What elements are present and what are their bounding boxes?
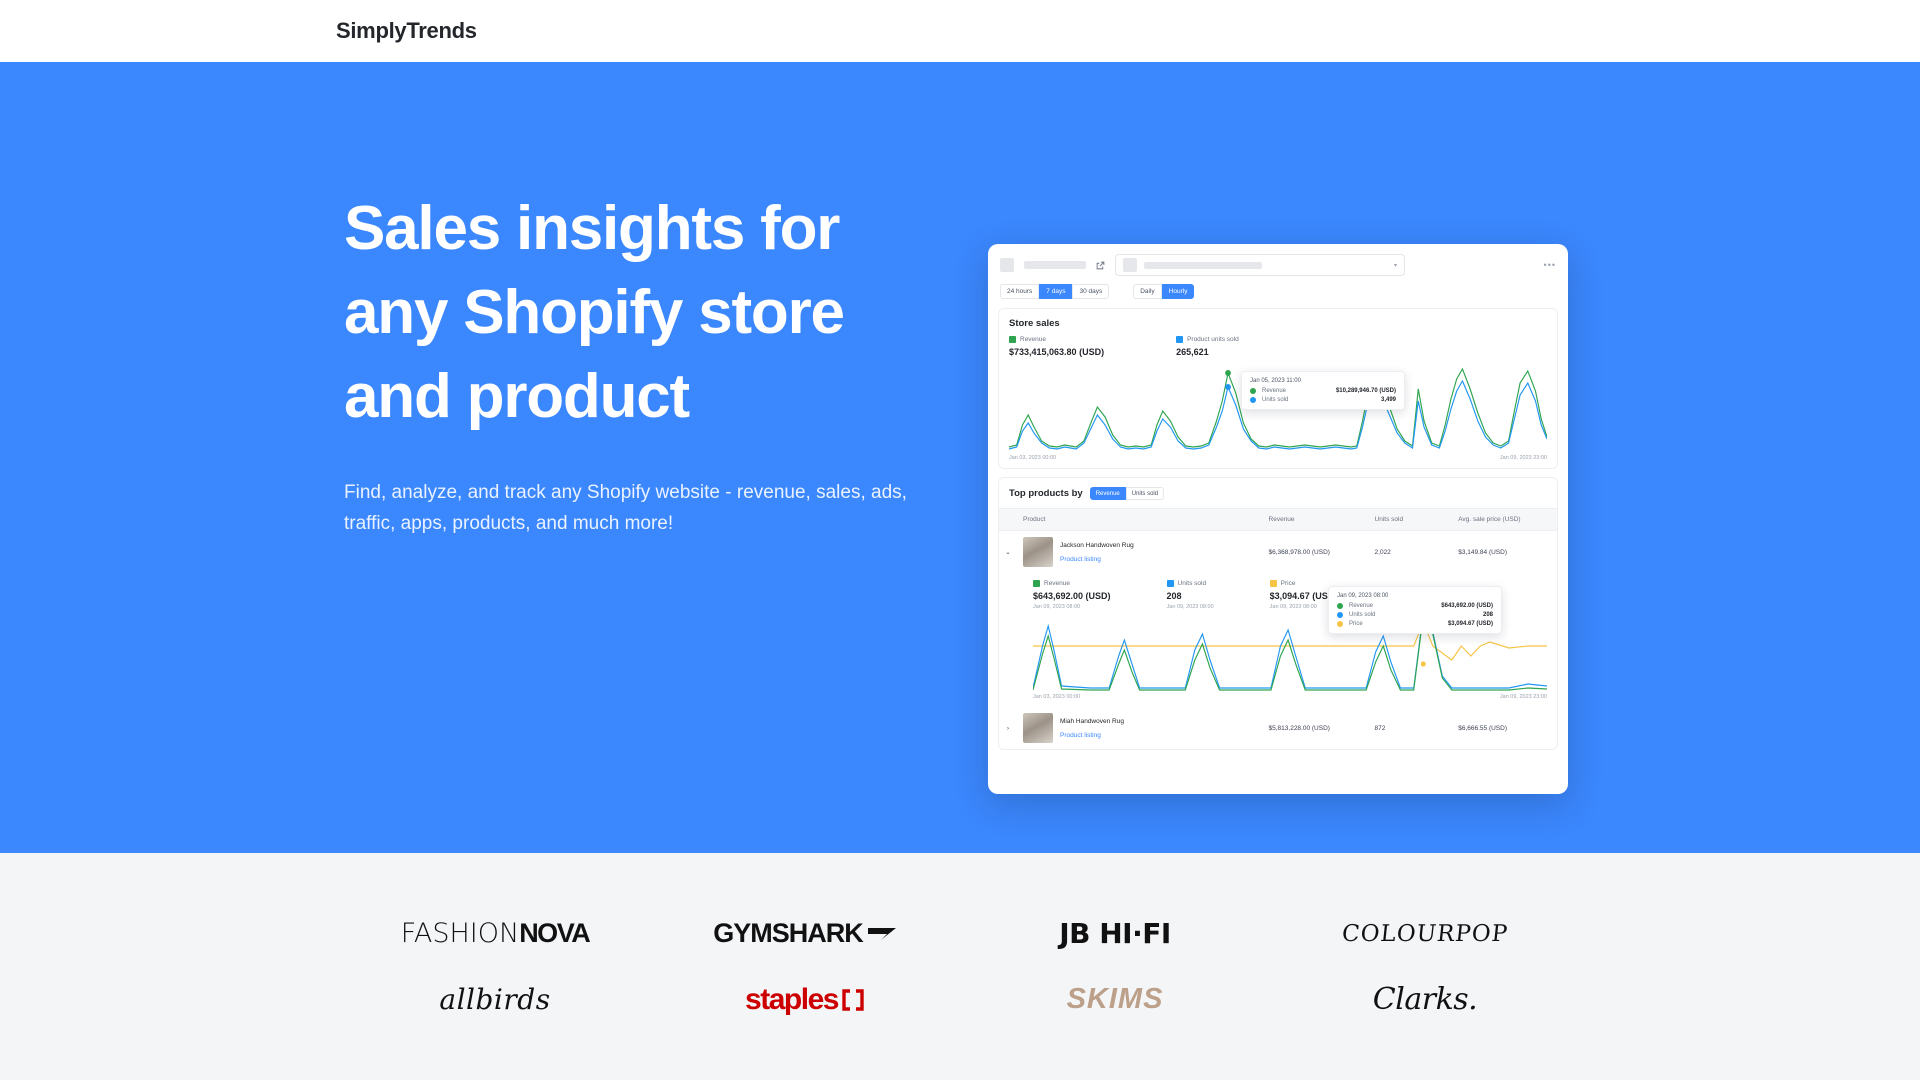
tooltip-label-units: Units sold	[1262, 397, 1308, 403]
table-row[interactable]: › Miah Handwoven Rug Product listing $5,…	[999, 707, 1557, 749]
product-name: Miah Handwoven Rug	[1060, 718, 1124, 725]
product-listing-link[interactable]: Product listing	[1060, 732, 1101, 739]
more-options-icon[interactable]: •••	[1544, 260, 1556, 270]
store-sales-chart[interactable]: Jan 05, 2023 11:00 Revenue $10,289,946.7…	[1009, 363, 1547, 455]
expand-toggle-icon[interactable]: ›	[999, 707, 1017, 749]
detail-highlight-price	[1421, 661, 1426, 666]
range-option-24-hours[interactable]: 24 hours	[1000, 284, 1039, 299]
gymshark-mark-icon	[867, 926, 897, 942]
logo-staples-text: staples	[745, 983, 838, 1017]
detail-tooltip-label-units: Units sold	[1349, 612, 1395, 618]
hero-section: Sales insights for any Shopify store and…	[0, 62, 1920, 853]
detail-axis-end-label: Jan 09, 2023 23:00	[1500, 694, 1547, 700]
granularity-segment[interactable]: Daily Hourly	[1133, 284, 1194, 299]
detail-axis-start-label: Jan 03, 2023 00:00	[1033, 694, 1080, 700]
detail-tooltip-value-revenue: $643,692.00 (USD)	[1441, 603, 1493, 609]
top-products-table: Product Revenue Units sold Avg. sale pri…	[999, 508, 1557, 573]
column-product: Product	[1017, 509, 1263, 531]
table-row[interactable]: ⌄ Jackson Handwoven Rug Product listing …	[999, 531, 1557, 574]
logo-fashionnova: FASHIONNOVA	[401, 912, 589, 956]
top-products-metric-segment[interactable]: Revenue Units sold	[1090, 487, 1164, 500]
axis-end-label: Jan 09, 2023 23:00	[1500, 455, 1547, 461]
product-units: 2,022	[1369, 531, 1453, 574]
product-thumbnail	[1023, 713, 1053, 743]
detail-tooltip-date: Jan 09, 2023 08:00	[1337, 593, 1493, 599]
highlight-point-revenue	[1225, 370, 1231, 376]
brand-logos-section: FASHIONNOVA GYMSHARK JB HI·FI COLOURPOP …	[0, 853, 1920, 1080]
tooltip-label-revenue: Revenue	[1262, 388, 1308, 394]
logo-jbhifi: JB HI·FI	[1059, 912, 1171, 956]
hero-copy: Sales insights for any Shopify store and…	[344, 187, 964, 539]
granularity-option-daily[interactable]: Daily	[1133, 284, 1161, 299]
logo-clarks: Clarks.	[1373, 978, 1477, 1022]
dashboard-filter-row: 24 hours 7 days 30 days Daily Hourly	[988, 276, 1568, 308]
granularity-option-hourly[interactable]: Hourly	[1162, 284, 1195, 299]
brand-logos-row-2: allbirds staples SKIMS Clarks.	[340, 978, 1580, 1022]
product-detail-expanded: Revenue $643,692.00 (USD) Jan 09, 2023 0…	[999, 580, 1557, 707]
legend-item-revenue: Revenue $733,415,063.80 (USD)	[1009, 336, 1104, 357]
detail-tooltip-row-units: Units sold 208	[1337, 612, 1493, 618]
expand-toggle-icon[interactable]: ⌄	[999, 531, 1017, 574]
revenue-swatch-icon	[1009, 336, 1016, 343]
product-revenue: $5,813,228.00 (USD)	[1263, 707, 1369, 749]
legend-value-revenue: $733,415,063.80 (USD)	[1009, 347, 1104, 357]
product-avg-price: $3,149.84 (USD)	[1452, 531, 1557, 574]
legend-label-revenue: Revenue	[1020, 336, 1046, 343]
detail-revenue-swatch-icon	[1033, 580, 1040, 587]
logo-staples: staples	[745, 978, 865, 1022]
product-units: 872	[1369, 707, 1453, 749]
hero-title-line-2: any Shopify store	[344, 271, 964, 355]
detail-tooltip-dot-price-icon	[1337, 621, 1343, 627]
dashboard-preview-card: ▾ ••• 24 hours 7 days 30 days Daily Hour…	[988, 244, 1568, 794]
detail-value-revenue: $643,692.00 (USD)	[1033, 591, 1111, 601]
top-products-table-continued: › Miah Handwoven Rug Product listing $5,…	[999, 707, 1557, 749]
product-revenue: $6,368,978.00 (USD)	[1263, 531, 1369, 574]
units-swatch-icon	[1176, 336, 1183, 343]
logo-gymshark: GYMSHARK	[713, 912, 897, 956]
detail-value-units: 208	[1167, 591, 1214, 601]
logo-skims-text: SKIMS	[1067, 983, 1164, 1016]
top-products-title: Top products by	[1009, 488, 1083, 499]
product-cell: Jackson Handwoven Rug Product listing	[1017, 531, 1263, 574]
store-name-placeholder	[1024, 261, 1086, 269]
axis-start-label: Jan 03, 2023 00:00	[1009, 455, 1056, 461]
table-header-row: Product Revenue Units sold Avg. sale pri…	[999, 509, 1557, 531]
brand-logo[interactable]: SimplyTrends	[336, 18, 477, 44]
column-avg-sale-price: Avg. sale price (USD)	[1452, 509, 1557, 531]
legend-value-units: 265,621	[1176, 347, 1239, 357]
logo-fashionnova-thin: FASHION	[401, 918, 519, 949]
hero-title-line-3: and product	[344, 355, 964, 439]
detail-tooltip-label-revenue: Revenue	[1349, 603, 1395, 609]
detail-date-units: Jan 09, 2023 08:00	[1167, 604, 1214, 610]
tooltip-row-revenue: Revenue $10,289,946.70 (USD)	[1250, 388, 1396, 394]
column-expand	[999, 509, 1017, 531]
logo-clarks-text: Clarks.	[1373, 982, 1477, 1017]
detail-label-revenue: Revenue	[1044, 580, 1070, 587]
top-products-panel: Top products by Revenue Units sold Produ…	[998, 477, 1558, 750]
range-option-7-days[interactable]: 7 days	[1039, 284, 1072, 299]
detail-tooltip-dot-units-icon	[1337, 612, 1343, 618]
logo-gymshark-text: GYMSHARK	[713, 918, 863, 949]
product-thumbnail	[1023, 537, 1053, 567]
metric-option-revenue[interactable]: Revenue	[1090, 487, 1126, 500]
detail-tooltip-row-price: Price $3,094.67 (USD)	[1337, 621, 1493, 627]
tooltip-dot-revenue-icon	[1250, 388, 1256, 394]
detail-label-price: Price	[1281, 580, 1296, 587]
detail-date-revenue: Jan 09, 2023 08:00	[1033, 604, 1111, 610]
logo-skims: SKIMS	[1067, 978, 1164, 1022]
product-name: Jackson Handwoven Rug	[1060, 542, 1134, 549]
detail-legend-revenue: Revenue $643,692.00 (USD) Jan 09, 2023 0…	[1033, 580, 1111, 610]
product-avg-price: $6,666.55 (USD)	[1452, 707, 1557, 749]
top-navbar: SimplyTrends	[0, 0, 1920, 62]
store-sales-legend: Revenue $733,415,063.80 (USD) Product un…	[1009, 336, 1547, 357]
product-detail-tooltip: Jan 09, 2023 08:00 Revenue $643,692.00 (…	[1328, 586, 1502, 634]
top-products-header: Top products by Revenue Units sold	[1009, 487, 1547, 500]
hero-subtitle: Find, analyze, and track any Shopify web…	[344, 477, 934, 539]
logo-colourpop-text: COLOURPOP	[1341, 921, 1510, 947]
product-listing-link[interactable]: Product listing	[1060, 556, 1101, 563]
logo-fashionnova-bold: NOVA	[519, 918, 589, 949]
detail-tooltip-value-units: 208	[1483, 612, 1493, 618]
logo-colourpop: COLOURPOP	[1342, 912, 1508, 956]
product-detail-axis: Jan 03, 2023 00:00 Jan 09, 2023 23:00	[1033, 694, 1547, 707]
detail-label-units: Units sold	[1178, 580, 1207, 587]
tooltip-row-units: Units sold 3,499	[1250, 397, 1396, 403]
metric-option-units-sold[interactable]: Units sold	[1126, 487, 1164, 500]
column-revenue: Revenue	[1263, 509, 1369, 531]
dashboard-toolbar: ▾ •••	[988, 244, 1568, 276]
detail-tooltip-value-price: $3,094.67 (USD)	[1448, 621, 1493, 627]
external-link-icon[interactable]	[1096, 261, 1105, 270]
date-range-segment[interactable]: 24 hours 7 days 30 days	[1000, 284, 1109, 299]
detail-units-swatch-icon	[1167, 580, 1174, 587]
tooltip-date: Jan 05, 2023 11:00	[1250, 378, 1396, 384]
brand-logos-row-1: FASHIONNOVA GYMSHARK JB HI·FI COLOURPOP	[340, 912, 1580, 956]
store-sales-panel: Store sales Revenue $733,415,063.80 (USD…	[998, 308, 1558, 469]
store-sales-axis: Jan 03, 2023 00:00 Jan 09, 2023 23:00	[999, 455, 1557, 468]
logo-allbirds: allbirds	[439, 978, 550, 1022]
highlight-point-units	[1225, 384, 1231, 390]
tooltip-value-revenue: $10,289,946.70 (USD)	[1336, 388, 1396, 394]
range-option-30-days[interactable]: 30 days	[1072, 284, 1109, 299]
chevron-down-icon[interactable]: ▾	[1394, 262, 1397, 269]
search-value-placeholder	[1144, 262, 1262, 269]
detail-price-swatch-icon	[1270, 580, 1277, 587]
page-title: Sales insights for any Shopify store and…	[344, 187, 964, 439]
legend-label-units: Product units sold	[1187, 336, 1239, 343]
store-search-input[interactable]: ▾	[1115, 254, 1405, 276]
search-thumb-placeholder	[1123, 258, 1137, 272]
detail-legend-units: Units sold 208 Jan 09, 2023 08:00	[1167, 580, 1214, 610]
product-detail-chart[interactable]: Jan 09, 2023 08:00 Revenue $643,692.00 (…	[1033, 616, 1547, 694]
staples-bracket-icon	[841, 989, 865, 1011]
detail-tooltip-label-price: Price	[1349, 621, 1395, 627]
tooltip-value-units: 3,499	[1381, 397, 1396, 403]
legend-item-units: Product units sold 265,621	[1176, 336, 1239, 357]
detail-tooltip-dot-revenue-icon	[1337, 603, 1343, 609]
store-avatar-placeholder	[1000, 258, 1014, 272]
column-units-sold: Units sold	[1369, 509, 1453, 531]
product-cell: Miah Handwoven Rug Product listing	[1017, 707, 1263, 749]
hero-title-line-1: Sales insights for	[344, 187, 964, 271]
store-sales-title: Store sales	[1009, 318, 1547, 329]
logo-jbhifi-text: JB HI·FI	[1059, 917, 1171, 950]
store-sales-tooltip: Jan 05, 2023 11:00 Revenue $10,289,946.7…	[1241, 371, 1405, 410]
tooltip-dot-units-icon	[1250, 397, 1256, 403]
detail-tooltip-row-revenue: Revenue $643,692.00 (USD)	[1337, 603, 1493, 609]
logo-allbirds-text: allbirds	[439, 983, 550, 1016]
